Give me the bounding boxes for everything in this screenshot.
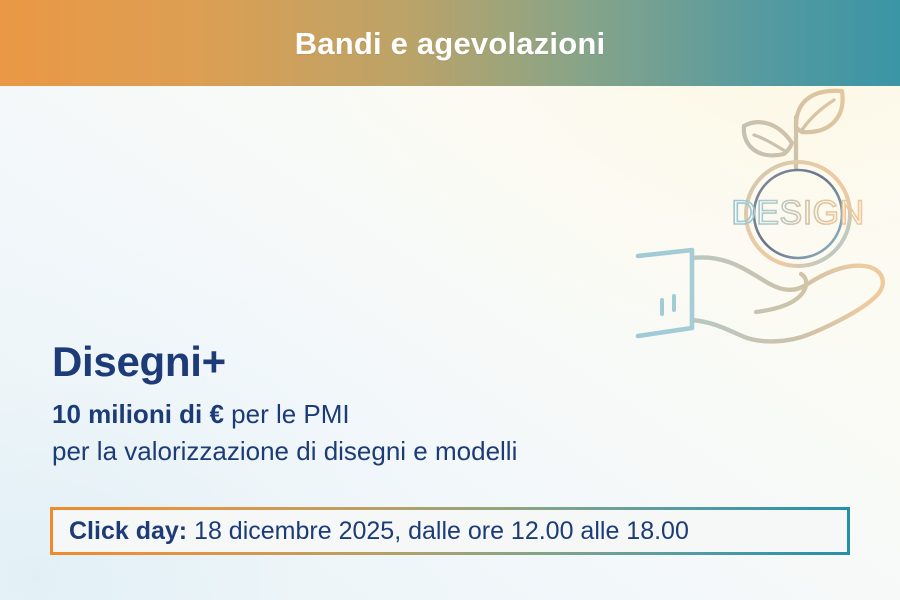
subtitle-line-2: per la valorizzazione di disegni e model… bbox=[52, 435, 852, 469]
click-day-text: Click day: 18 dicembre 2025, dalle ore 1… bbox=[69, 519, 689, 544]
subtitle-target: per le PMI bbox=[224, 399, 350, 429]
click-day-value: 18 dicembre 2025, dalle ore 12.00 alle 1… bbox=[187, 517, 689, 545]
page-title: Disegni+ bbox=[52, 340, 852, 384]
click-day-label: Click day: bbox=[69, 517, 187, 545]
click-day-box: Click day: 18 dicembre 2025, dalle ore 1… bbox=[50, 507, 850, 555]
text-block: Disegni+ 10 milioni di € per le PMI per … bbox=[52, 340, 852, 469]
subtitle-amount: 10 milioni di € bbox=[52, 399, 224, 429]
promo-banner: Bandi e agevolazioni bbox=[0, 0, 900, 600]
click-day-box-inner: Click day: 18 dicembre 2025, dalle ore 1… bbox=[53, 510, 847, 552]
header-bar: Bandi e agevolazioni bbox=[0, 0, 900, 86]
header-title: Bandi e agevolazioni bbox=[295, 28, 606, 59]
subtitle-line-1: 10 milioni di € per le PMI bbox=[52, 398, 852, 432]
